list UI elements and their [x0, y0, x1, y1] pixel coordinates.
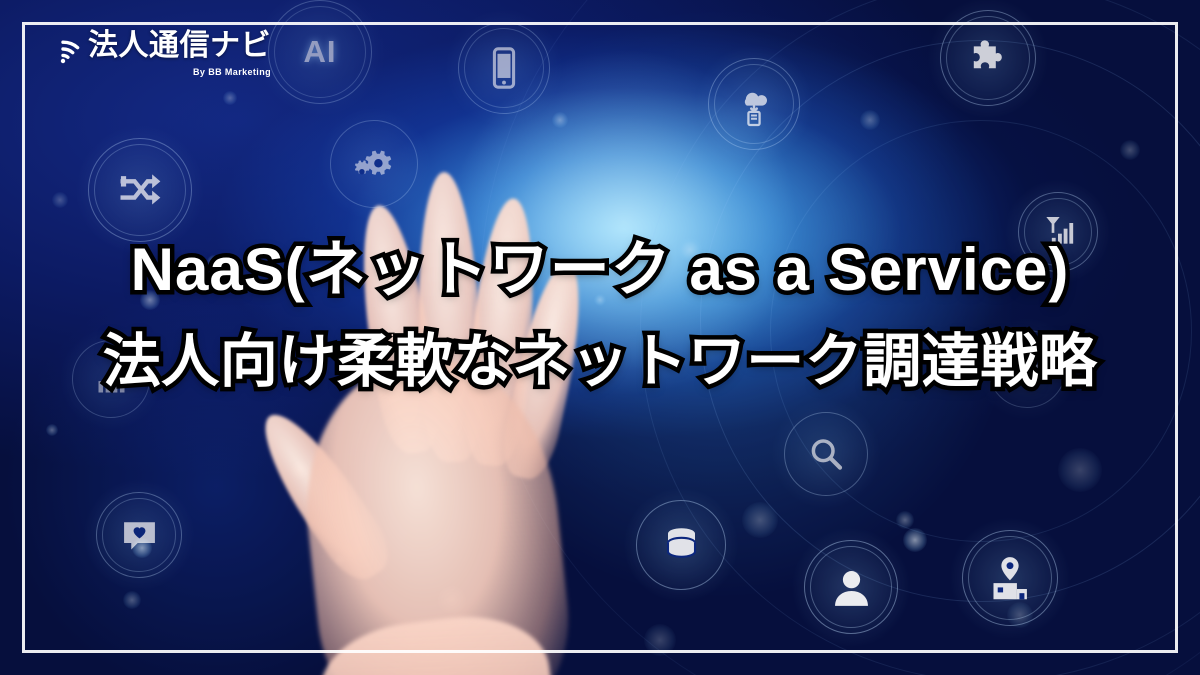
wifi-icon	[46, 38, 80, 69]
hero-banner: AI 法人通信ナビ By BB Marketing NaaS(ネットワーク as…	[0, 0, 1200, 675]
ai-text-icon: AI	[268, 0, 372, 104]
network-switch-icon	[88, 138, 192, 242]
icon-label: AI	[304, 34, 337, 70]
gears-icon	[330, 120, 418, 208]
location-building-icon	[962, 530, 1058, 626]
database-icon	[636, 500, 726, 590]
cloud-download-icon	[708, 58, 800, 150]
search-icon	[784, 412, 868, 496]
bar-chart-icon	[72, 340, 150, 418]
puzzle-piece-icon	[940, 10, 1036, 106]
chat-heart-icon	[96, 492, 182, 578]
office-building-icon	[988, 330, 1066, 408]
logo-name: 法人通信ナビ	[88, 30, 271, 62]
user-avatar-icon	[804, 540, 898, 634]
smartphone-icon	[458, 22, 550, 114]
signal-bars-icon	[1018, 192, 1098, 272]
site-logo[interactable]: 法人通信ナビ By BB Marketing	[46, 30, 271, 77]
logo-tagline: By BB Marketing	[88, 67, 271, 77]
